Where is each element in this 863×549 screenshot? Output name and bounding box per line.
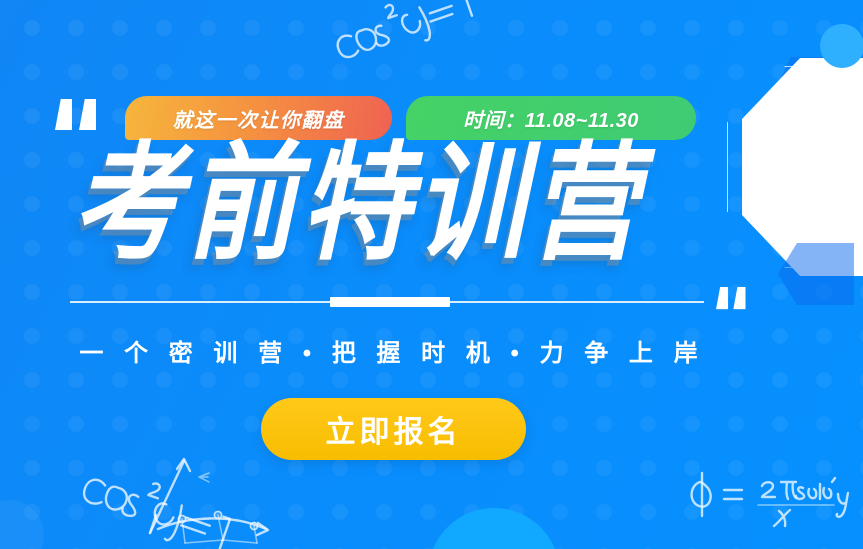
- signup-button[interactable]: 立即报名: [261, 398, 526, 460]
- divider: [70, 301, 704, 303]
- banner-content: 就这一次让你翻盘 时间：11.08~11.30 考前特训营 一 个 密 训 营 …: [0, 0, 863, 549]
- promo-banner: 就这一次让你翻盘 时间：11.08~11.30 考前特训营 一 个 密 训 营 …: [0, 0, 863, 549]
- quote-close-icon: [716, 287, 746, 309]
- page-title: 考前特训营: [72, 140, 643, 267]
- quote-open-icon: [55, 99, 96, 130]
- subtitle: 一 个 密 训 营 • 把 握 时 机 • 力 争 上 岸: [0, 333, 784, 368]
